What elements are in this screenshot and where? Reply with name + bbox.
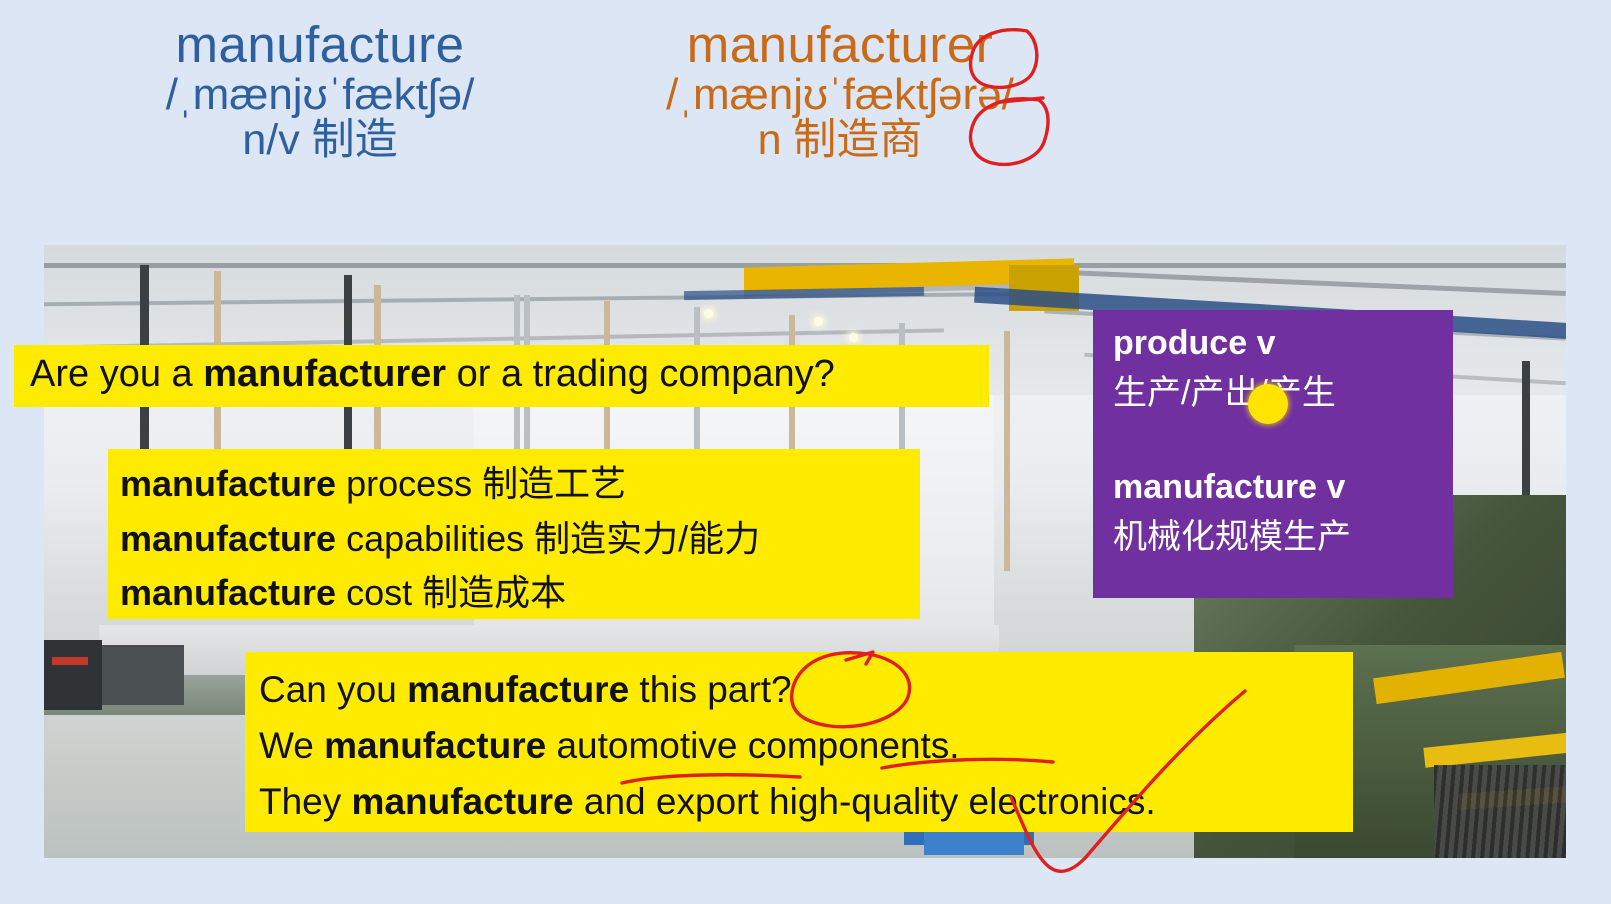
question-banner: Are you a manufacturer or a trading comp… [14, 345, 989, 407]
control-panel [44, 640, 102, 710]
collocations-list: manufacture process 制造工艺 manufacture cap… [108, 449, 920, 621]
examples-box: Can you manufacture this part? We manufa… [245, 652, 1353, 832]
collocation-keyword: manufacture [120, 518, 336, 559]
collocation-keyword: manufacture [120, 572, 336, 613]
collocation-rest: capabilities 制造实力/能力 [336, 518, 760, 559]
ceiling-light [814, 317, 823, 326]
example-keyword: manufacture [324, 725, 546, 766]
manufacture-translation: 机械化规模生产 [1093, 507, 1453, 558]
vocab-word-right: manufacturer [580, 18, 1100, 72]
example-pre: They [259, 781, 352, 822]
list-item: We manufacture automotive components. [259, 718, 1353, 774]
question-before: Are you a [30, 353, 203, 395]
vocab-word-left: manufacture [60, 18, 580, 72]
example-keyword: manufacture [352, 781, 574, 822]
collocation-keyword: manufacture [120, 463, 336, 504]
example-post: automotive components. [546, 725, 959, 766]
vocab-gloss-left: n/v 制造 [60, 118, 580, 163]
collocation-rest: cost 制造成本 [336, 572, 566, 613]
collocation-rest: process 制造工艺 [336, 463, 626, 504]
slide-canvas: manufacture /ˌmænjʊˈfæktʃə/ n/v 制造 manuf… [0, 0, 1611, 904]
cable-bundle [1434, 765, 1566, 858]
collocations-box: manufacture process 制造工艺 manufacture cap… [108, 449, 920, 619]
vocab-entry-manufacture: manufacture /ˌmænjʊˈfæktʃə/ n/v 制造 [60, 18, 580, 163]
example-post: this part? [629, 669, 791, 710]
vocab-gloss-right: n 制造商 [580, 118, 1100, 163]
indicator-strip [52, 657, 88, 665]
hanging-pipe [1004, 331, 1010, 571]
example-keyword: manufacture [407, 669, 629, 710]
ceiling-light [704, 309, 713, 318]
examples-list: Can you manufacture this part? We manufa… [245, 652, 1353, 831]
vocab-entry-manufacturer: manufacturer /ˌmænjʊˈfæktʃərə/ n 制造商 [580, 18, 1100, 163]
question-text: Are you a manufacturer or a trading comp… [30, 353, 835, 396]
question-after: or a trading company? [446, 353, 835, 395]
example-post: and export high-quality electronics. [574, 781, 1156, 822]
vocab-ipa-left: /ˌmænjʊˈfæktʃə/ [60, 72, 580, 118]
example-pre: We [259, 725, 324, 766]
produce-headword: produce v [1093, 310, 1453, 363]
manufacture-headword: manufacture v [1093, 414, 1453, 507]
example-pre: Can you [259, 669, 407, 710]
laser-pointer-dot [1248, 384, 1288, 424]
ceiling-light [849, 333, 858, 342]
list-item: Can you manufacture this part? [259, 662, 1353, 718]
list-item: manufacture cost 制造成本 [120, 566, 920, 621]
list-item: manufacture process 制造工艺 [120, 457, 920, 512]
purple-definition-box: produce v 生产/产出/产生 manufacture v 机械化规模生产 [1093, 310, 1453, 598]
list-item: They manufacture and export high-quality… [259, 774, 1353, 830]
list-item: manufacture capabilities 制造实力/能力 [120, 512, 920, 567]
vocab-ipa-right: /ˌmænjʊˈfæktʃərə/ [580, 72, 1100, 118]
question-keyword: manufacturer [203, 353, 446, 395]
